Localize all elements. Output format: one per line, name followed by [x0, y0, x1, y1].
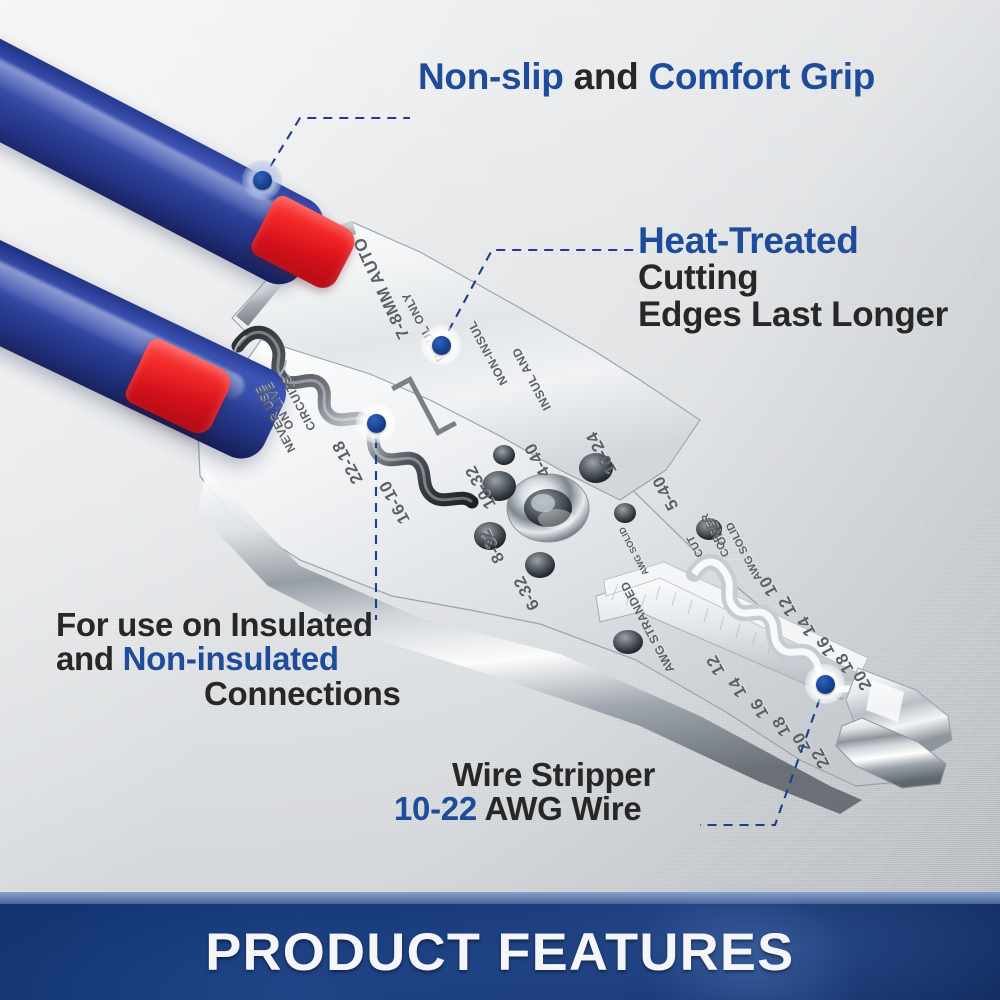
callout-dot-handle[interactable]	[242, 160, 282, 200]
callout-strip-line1: Wire Stripper	[452, 758, 655, 792]
callout-grip-text-a: Non-slip	[418, 56, 564, 97]
product-features-banner: PRODUCT FEATURES	[0, 892, 1000, 1000]
callout-strip-line2-b: AWG Wire	[477, 790, 641, 827]
infographic-canvas: 7-8MM AUTO INSUL ONLY NON-INSUL INSUL AN…	[0, 0, 1000, 1000]
callout-heat-line2: Cutting	[638, 260, 948, 296]
callout-non-slip-grip: Non-slip and Comfort Grip	[418, 58, 875, 96]
callout-insulated-connections: For use on Insulated and Non-insulated C…	[56, 608, 401, 711]
marking-bracket-icon	[398, 372, 468, 452]
callout-heat-line1: Heat-Treated	[638, 222, 948, 260]
callout-dot-crimper[interactable]	[356, 403, 396, 443]
callout-dot-cutting-edge[interactable]	[421, 325, 461, 365]
banner-title: PRODUCT FEATURES	[205, 922, 794, 983]
callout-insul-line2-a: and	[56, 640, 123, 677]
banner-body: PRODUCT FEATURES	[0, 904, 1000, 1000]
callout-strip-line2-a: 10-22	[394, 790, 477, 827]
callout-heat-line3: Edges Last Longer	[638, 297, 948, 333]
callout-grip-text-c: Comfort Grip	[648, 56, 875, 97]
callout-insul-line3: Connections	[204, 677, 401, 711]
callout-dot-stripper-notches[interactable]	[805, 664, 845, 704]
pivot-bolt	[507, 474, 589, 542]
callout-insul-line1: For use on Insulated	[56, 608, 401, 642]
callout-grip-text-b: and	[564, 56, 649, 97]
callout-wire-stripper: Wire Stripper 10-22 AWG Wire	[452, 758, 655, 827]
callout-heat-treated: Heat-Treated Cutting Edges Last Longer	[638, 222, 948, 333]
callout-insul-line2-b: Non-insulated	[123, 640, 339, 677]
